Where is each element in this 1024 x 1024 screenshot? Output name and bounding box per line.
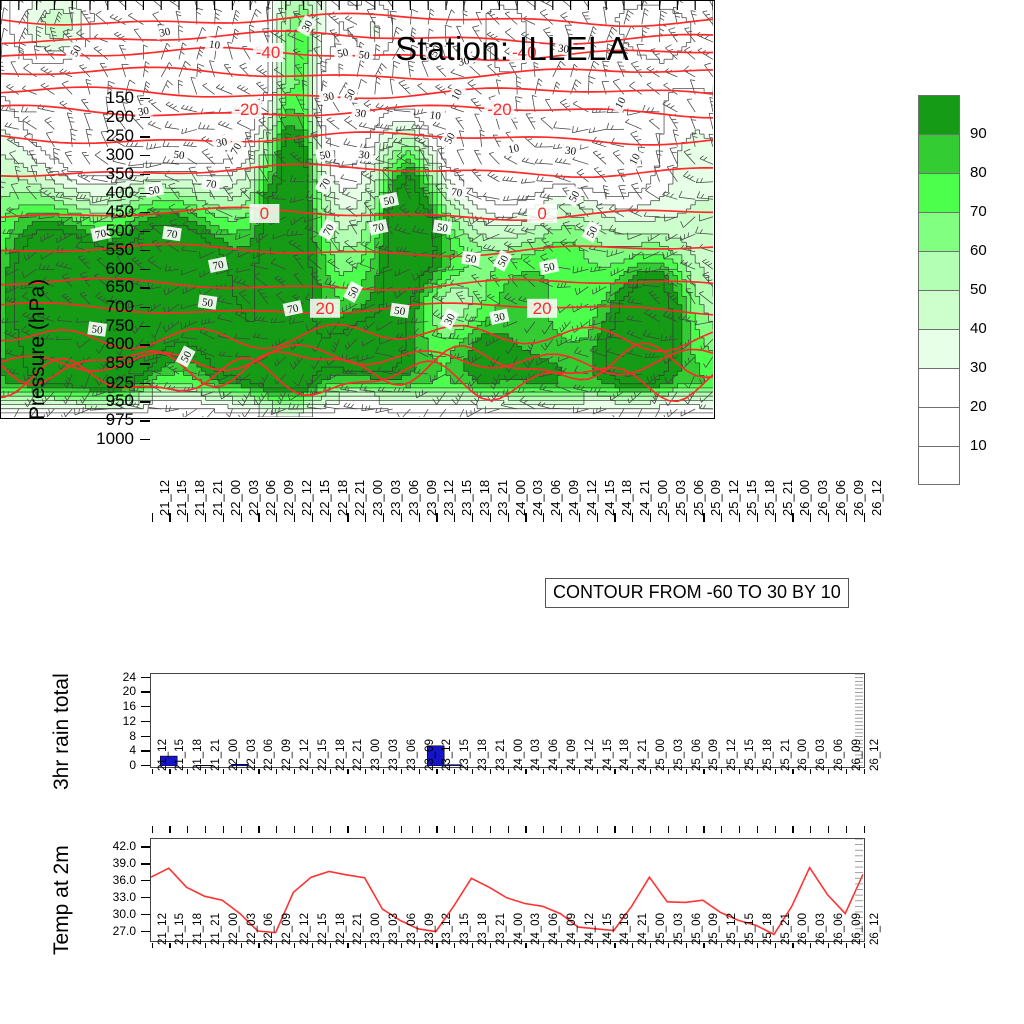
x-tick-label: 21_12 [157,480,172,516]
x-tick [632,943,633,948]
x-tick-label: 25_18 [762,480,777,516]
main-y-tick [140,287,150,288]
x-tick-label: 22_15 [317,480,332,516]
temp-panel-top-ticks [150,826,865,834]
x-tick [365,769,366,774]
main-y-tick-label: 950 [82,392,134,409]
main-y-tick [140,344,150,345]
x-tick [668,513,669,522]
x-tick-label: 24_09 [566,739,578,771]
x-tick-label: 21_15 [174,480,189,516]
main-y-tick-label: 200 [82,108,134,125]
x-tick-label: 22_21 [352,480,367,516]
main-y-tick-label: 700 [82,298,134,315]
x-tick-label: 21_18 [192,480,207,516]
rain-y-tick [141,736,150,737]
main-y-tick-label: 975 [82,411,134,428]
x-tick [632,769,633,774]
x-tick-label: 24_21 [637,739,649,771]
x-tick [792,943,793,948]
main-y-tick-label: 925 [82,374,134,391]
x-tick [312,513,313,522]
colorbar-tick-label: 70 [970,203,987,220]
x-tick-label: 24_00 [513,739,525,771]
main-y-tick [140,326,150,327]
x-tick-label: 22_03 [246,739,258,771]
x-tick [846,769,847,774]
x-tick-label: 25_09 [708,480,723,516]
main-y-tick-label: 550 [82,241,134,258]
temp-y-tick-label: 36.0 [96,873,136,887]
x-tick-label: 22_18 [335,913,347,945]
main-y-tick-label: 450 [82,203,134,220]
x-tick-label: 23_00 [370,480,385,516]
temp-chart-y-axis: 42.039.036.033.030.027.0 [95,838,150,942]
x-tick [525,943,526,948]
x-tick-label: 25_06 [691,913,703,945]
x-tick-label: 24_00 [513,913,525,945]
x-tick [294,769,295,774]
x-tick [205,769,206,774]
x-tick-label: 22_18 [335,480,350,516]
x-tick [846,513,847,522]
colorbar-swatch[interactable] [918,173,960,212]
x-tick [241,769,242,774]
rain-y-tick-label: 0 [96,758,136,772]
main-y-tick [140,212,150,213]
x-tick-label: 26_12 [869,739,881,771]
x-tick [419,943,420,948]
rain-y-tick-label: 16 [96,699,136,713]
x-tick-label: 24_06 [548,739,560,771]
x-tick-label: 23_06 [406,739,418,771]
temp-y-tick [141,897,150,898]
x-tick-label: 23_06 [406,480,421,516]
x-tick-label: 22_00 [228,913,240,945]
x-tick-label: 26_00 [797,913,809,945]
x-tick-label: 25_03 [673,480,688,516]
x-tick [330,943,331,948]
x-tick [721,943,722,948]
x-tick [365,943,366,948]
main-y-tick [140,231,150,232]
x-tick [757,513,758,522]
x-tick-label: 24_18 [619,913,631,945]
main-chart-x-axis: 21_1221_1521_1821_2122_0022_0322_0622_09… [150,513,865,583]
x-tick [757,943,758,948]
x-tick-label: 26_09 [851,480,866,516]
x-tick [543,513,544,522]
x-tick-label: 21_21 [210,480,225,516]
x-tick [436,943,437,948]
x-tick [258,513,259,522]
x-tick-label: 23_18 [477,913,489,945]
colorbar-swatch[interactable] [918,329,960,368]
rain-y-tick [141,721,150,722]
x-tick [775,513,776,522]
x-tick-label: 26_09 [851,739,863,771]
x-tick [223,513,224,522]
x-tick-label: 23_03 [388,913,400,945]
colorbar[interactable]: 908070605040302010 [918,95,960,485]
contour-note-label: CONTOUR FROM -60 TO 30 BY 10 [545,578,849,608]
x-tick-label: 24_09 [566,480,581,516]
x-tick [739,513,740,522]
x-tick [365,513,366,522]
main-y-tick-label: 500 [82,222,134,239]
x-tick-label: 25_06 [691,480,706,516]
x-tick [419,513,420,522]
temp-y-tick [141,863,150,864]
x-tick-label: 21_15 [174,739,186,771]
colorbar-swatch[interactable] [918,290,960,329]
x-tick [525,513,526,522]
x-tick [757,769,758,774]
x-tick [597,943,598,948]
main-y-tick [140,250,150,251]
colorbar-swatch[interactable] [918,407,960,446]
x-tick-label: 24_21 [637,480,652,516]
x-tick-label: 25_06 [691,739,703,771]
colorbar-swatch[interactable] [918,134,960,173]
x-tick [169,513,170,522]
main-y-tick [140,439,150,440]
x-tick-label: 25_21 [780,913,792,945]
main-y-tick [140,307,150,308]
main-y-tick [140,363,150,364]
x-tick-label: 23_00 [370,739,382,771]
x-tick-label: 23_15 [459,480,474,516]
main-y-tick [140,117,150,118]
x-tick-label: 22_12 [299,739,311,771]
x-tick [864,943,865,948]
colorbar-tick-label: 40 [970,320,987,337]
contour-note-box: CONTOUR FROM -60 TO 30 BY 10 [545,578,849,608]
temp-y-tick-label: 42.0 [96,839,136,853]
x-tick-label: 21_15 [174,913,186,945]
x-tick-label: 21_21 [210,739,222,771]
x-tick-label: 24_15 [602,480,617,516]
x-tick-label: 24_06 [548,913,560,945]
x-tick [472,513,473,522]
colorbar-tick-label: 80 [970,164,987,181]
x-tick [579,769,580,774]
x-tick-label: 26_12 [869,480,884,516]
x-tick [810,513,811,522]
x-tick [187,943,188,948]
temp-y-tick-label: 27.0 [96,924,136,938]
x-tick [330,769,331,774]
x-tick [703,769,704,774]
x-tick-label: 25_15 [744,913,756,945]
main-y-tick-label: 250 [82,127,134,144]
x-tick [650,943,651,948]
x-tick [650,769,651,774]
rain-y-tick [141,765,150,766]
x-tick-label: 22_15 [317,739,329,771]
x-tick-label: 25_18 [762,913,774,945]
x-tick-label: 25_00 [655,913,667,945]
x-tick-label: 23_12 [441,913,453,945]
x-tick [472,943,473,948]
x-tick [686,513,687,522]
x-tick-label: 22_12 [299,913,311,945]
colorbar-swatch[interactable] [918,446,960,485]
x-tick-label: 21_21 [210,913,222,945]
main-y-tick [140,136,150,137]
x-tick-label: 23_12 [441,739,453,771]
x-tick-label: 23_21 [495,739,507,771]
x-tick-label: 22_00 [228,480,243,516]
x-tick-label: 24_15 [602,739,614,771]
x-tick-label: 22_18 [335,739,347,771]
x-tick [330,513,331,522]
main-y-tick [140,98,150,99]
x-tick-label: 26_03 [815,480,830,516]
x-tick-label: 25_12 [726,480,741,516]
x-tick-label: 23_09 [424,913,436,945]
page-title: Station: ILLELA [0,30,1024,68]
colorbar-swatch[interactable] [918,368,960,407]
x-tick [792,513,793,522]
main-y-tick-label: 350 [82,165,134,182]
x-tick [668,769,669,774]
rain-y-tick-label: 12 [96,714,136,728]
temp-y-tick [141,914,150,915]
x-tick [543,943,544,948]
x-tick-label: 24_12 [584,913,596,945]
x-tick-label: 25_15 [744,480,759,516]
x-tick [294,943,295,948]
x-tick-label: 23_03 [388,739,400,771]
x-tick-label: 26_00 [797,739,809,771]
x-tick-label: 23_18 [477,480,492,516]
x-tick-label: 21_12 [157,739,169,771]
x-tick-label: 22_12 [299,480,314,516]
x-tick-label: 25_03 [673,739,685,771]
x-tick-label: 25_21 [780,739,792,771]
x-tick [846,943,847,948]
main-y-tick [140,193,150,194]
x-tick [454,943,455,948]
x-tick-label: 24_09 [566,913,578,945]
main-y-tick [140,401,150,402]
x-tick [561,513,562,522]
x-tick [614,513,615,522]
x-tick [810,943,811,948]
x-tick-label: 22_03 [246,480,261,516]
x-tick-label: 26_03 [815,913,827,945]
x-tick [258,769,259,774]
x-tick-label: 24_06 [548,480,563,516]
x-tick-label: 22_03 [246,913,258,945]
x-tick [864,513,865,522]
x-tick-label: 23_18 [477,739,489,771]
x-tick [525,769,526,774]
x-tick [703,943,704,948]
temp-y-tick-label: 39.0 [96,856,136,870]
x-tick [508,769,509,774]
x-tick [490,513,491,522]
x-tick [668,943,669,948]
x-tick-label: 22_06 [263,739,275,771]
x-tick [864,769,865,774]
x-tick-label: 24_03 [530,480,545,516]
x-tick-label: 25_09 [708,913,720,945]
x-tick-label: 23_09 [424,480,439,516]
x-tick-label: 25_12 [726,913,738,945]
main-y-tick-label: 400 [82,184,134,201]
x-tick [187,513,188,522]
x-tick-label: 26_09 [851,913,863,945]
x-tick [383,769,384,774]
x-tick-label: 22_21 [352,739,364,771]
x-tick-label: 23_21 [495,913,507,945]
x-tick-label: 22_09 [281,739,293,771]
x-tick-label: 24_15 [602,913,614,945]
rain-y-tick [141,706,150,707]
x-tick [597,513,598,522]
colorbar-tick-label: 50 [970,281,987,298]
x-tick-label: 21_18 [192,739,204,771]
x-tick [205,943,206,948]
main-y-tick [140,383,150,384]
x-tick [152,769,153,774]
x-tick-label: 24_21 [637,913,649,945]
x-tick-label: 25_09 [708,739,720,771]
x-tick [276,513,277,522]
x-tick-label: 22_09 [281,480,296,516]
x-tick [792,769,793,774]
rain-y-tick [141,691,150,692]
x-tick [614,943,615,948]
x-tick [401,943,402,948]
x-tick [205,513,206,522]
x-tick-label: 23_15 [459,913,471,945]
x-tick-label: 25_18 [762,739,774,771]
rain-chart-y-axis: 24201612840 [100,673,150,768]
x-tick-label: 22_00 [228,739,240,771]
x-tick [775,943,776,948]
temp-y-tick [141,846,150,847]
x-tick [597,769,598,774]
x-tick-label: 24_12 [584,480,599,516]
x-tick-label: 24_03 [530,739,542,771]
x-tick [169,769,170,774]
main-y-tick-label: 300 [82,146,134,163]
x-tick [419,769,420,774]
x-tick [241,943,242,948]
main-y-tick [140,155,150,156]
x-tick [543,769,544,774]
main-y-tick-label: 650 [82,278,134,295]
x-tick-label: 26_00 [797,480,812,516]
x-tick [472,769,473,774]
rain-y-tick-label: 8 [96,729,136,743]
x-tick-label: 26_06 [833,739,845,771]
x-tick-label: 23_09 [424,739,436,771]
x-tick [721,769,722,774]
temp-y-tick [141,931,150,932]
x-tick-label: 22_21 [352,913,364,945]
x-tick [686,769,687,774]
x-tick [347,943,348,948]
temp-chart-x-axis: 21_1221_1521_1821_2122_0022_0322_0622_09… [150,943,865,1003]
main-y-tick-label: 750 [82,317,134,334]
rain-y-tick [141,677,150,678]
x-tick [721,513,722,522]
x-tick [312,769,313,774]
x-tick-label: 23_06 [406,913,418,945]
x-tick-label: 22_15 [317,913,329,945]
colorbar-tick-label: 60 [970,242,987,259]
x-tick-label: 23_00 [370,913,382,945]
x-tick [223,769,224,774]
rain-y-tick-label: 24 [96,670,136,684]
x-tick [508,513,509,522]
x-tick [383,943,384,948]
main-y-tick-label: 600 [82,260,134,277]
main-y-tick-label: 800 [82,335,134,352]
x-tick [739,769,740,774]
colorbar-swatch[interactable] [918,212,960,251]
x-tick [312,943,313,948]
main-y-tick-label: 850 [82,354,134,371]
x-tick [579,513,580,522]
x-tick-label: 24_03 [530,913,542,945]
colorbar-tick-label: 20 [970,398,987,415]
x-tick-label: 26_06 [833,480,848,516]
colorbar-swatch[interactable] [918,95,960,134]
x-tick-label: 25_00 [655,739,667,771]
x-tick [490,943,491,948]
x-tick-label: 21_18 [192,913,204,945]
x-tick [650,513,651,522]
x-tick [454,769,455,774]
x-tick-label: 23_12 [441,480,456,516]
x-tick [508,943,509,948]
x-tick [401,513,402,522]
x-tick [187,769,188,774]
x-tick [294,513,295,522]
x-tick [258,943,259,948]
x-tick-label: 24_12 [584,739,596,771]
rain-y-tick-label: 4 [96,743,136,757]
main-y-tick [140,269,150,270]
x-tick [703,513,704,522]
rain-y-tick-label: 20 [96,684,136,698]
x-tick [810,769,811,774]
main-y-tick-label: 150 [82,89,134,106]
x-tick-label: 25_03 [673,913,685,945]
x-tick [490,769,491,774]
x-tick [347,513,348,522]
temp-y-tick-label: 30.0 [96,907,136,921]
x-tick [828,513,829,522]
x-tick-label: 25_00 [655,480,670,516]
x-tick [579,943,580,948]
colorbar-swatch[interactable] [918,251,960,290]
x-tick-label: 25_15 [744,739,756,771]
x-tick [152,943,153,948]
x-tick-label: 26_12 [869,913,881,945]
x-tick [436,513,437,522]
rain-chart-x-axis: 21_1221_1521_1821_2122_0022_0322_0622_09… [150,769,865,829]
x-tick-label: 24_18 [619,739,631,771]
x-tick-label: 22_06 [263,913,275,945]
x-tick-label: 25_12 [726,739,738,771]
main-y-tick [140,420,150,421]
